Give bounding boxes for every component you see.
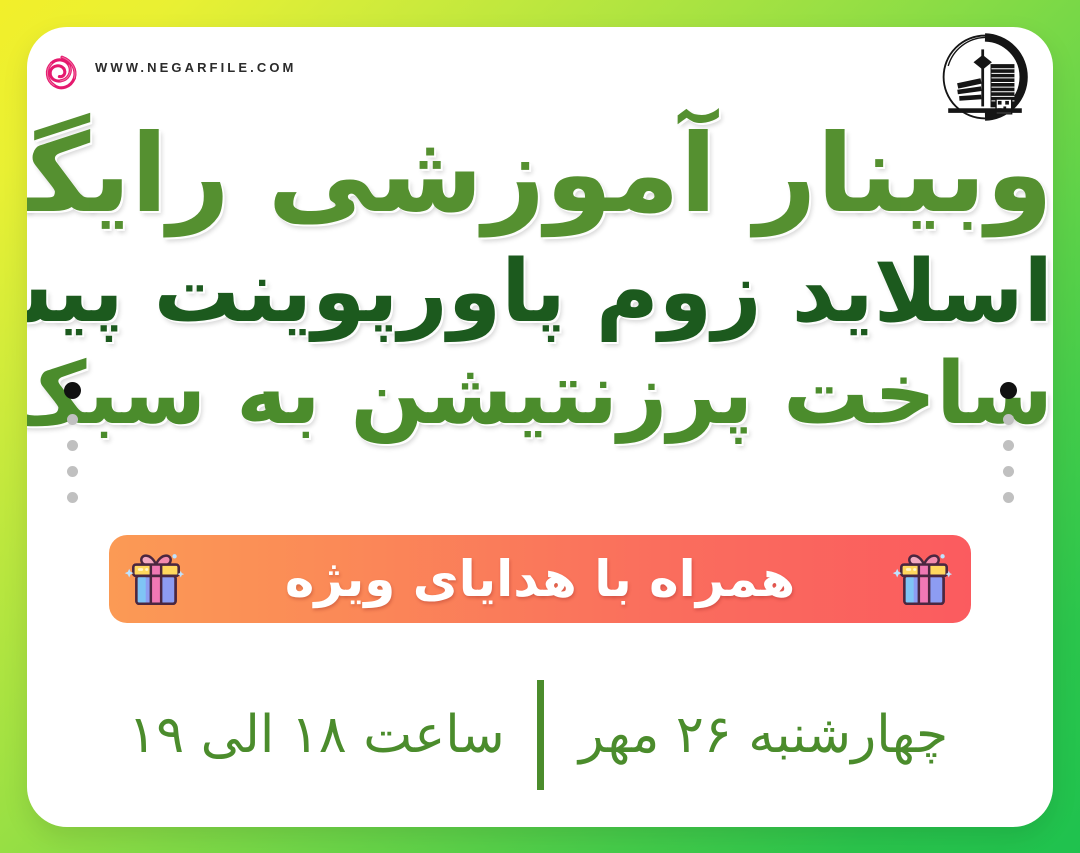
poster-canvas: WWW.NEGARFILE.COM bbox=[0, 0, 1080, 853]
meta-divider bbox=[537, 680, 544, 790]
brand-url-text: WWW.NEGARFILE.COM bbox=[95, 60, 296, 75]
dot-indicator-item bbox=[1003, 492, 1014, 503]
event-date: چهارشنبه ۲۶ مهر bbox=[554, 705, 974, 765]
gift-box-icon bbox=[891, 546, 957, 612]
dot-indicator-item bbox=[67, 440, 78, 451]
dot-indicator-item bbox=[64, 382, 81, 399]
poster-card: WWW.NEGARFILE.COM bbox=[27, 27, 1053, 827]
dot-indicator-item bbox=[67, 414, 78, 425]
dot-indicator-item bbox=[1003, 440, 1014, 451]
right-dot-indicator bbox=[1001, 382, 1015, 503]
gift-banner: همراه با هدایای ویژه bbox=[109, 535, 971, 623]
dot-indicator-item bbox=[1003, 466, 1014, 477]
headline-block: وبینار آموزشی رایگان اسلاید زوم پاورپوین… bbox=[27, 99, 1053, 437]
headline-line-3: ساخت پرزنتیشن به سبک پرزی bbox=[27, 345, 1053, 437]
dot-indicator-item bbox=[1000, 382, 1017, 399]
dot-indicator-item bbox=[1003, 414, 1014, 425]
dot-indicator-item bbox=[67, 492, 78, 503]
gift-banner-text: همراه با هدایای ویژه bbox=[189, 550, 891, 608]
gift-box-icon bbox=[123, 546, 189, 612]
negarfile-knot-logo-icon bbox=[40, 51, 84, 95]
headline-line-1: وبینار آموزشی رایگان bbox=[27, 99, 1053, 243]
event-time: ساعت ۱۸ الی ۱۹ bbox=[107, 705, 527, 765]
headline-line-2: اسلاید زوم پاورپوینت پیشرفته bbox=[27, 243, 1053, 345]
left-dot-indicator bbox=[65, 382, 79, 503]
meta-row: چهارشنبه ۲۶ مهر ساعت ۱۸ الی ۱۹ bbox=[27, 672, 1053, 797]
dot-indicator-item bbox=[67, 466, 78, 477]
brand-row: WWW.NEGARFILE.COM bbox=[27, 47, 1053, 107]
